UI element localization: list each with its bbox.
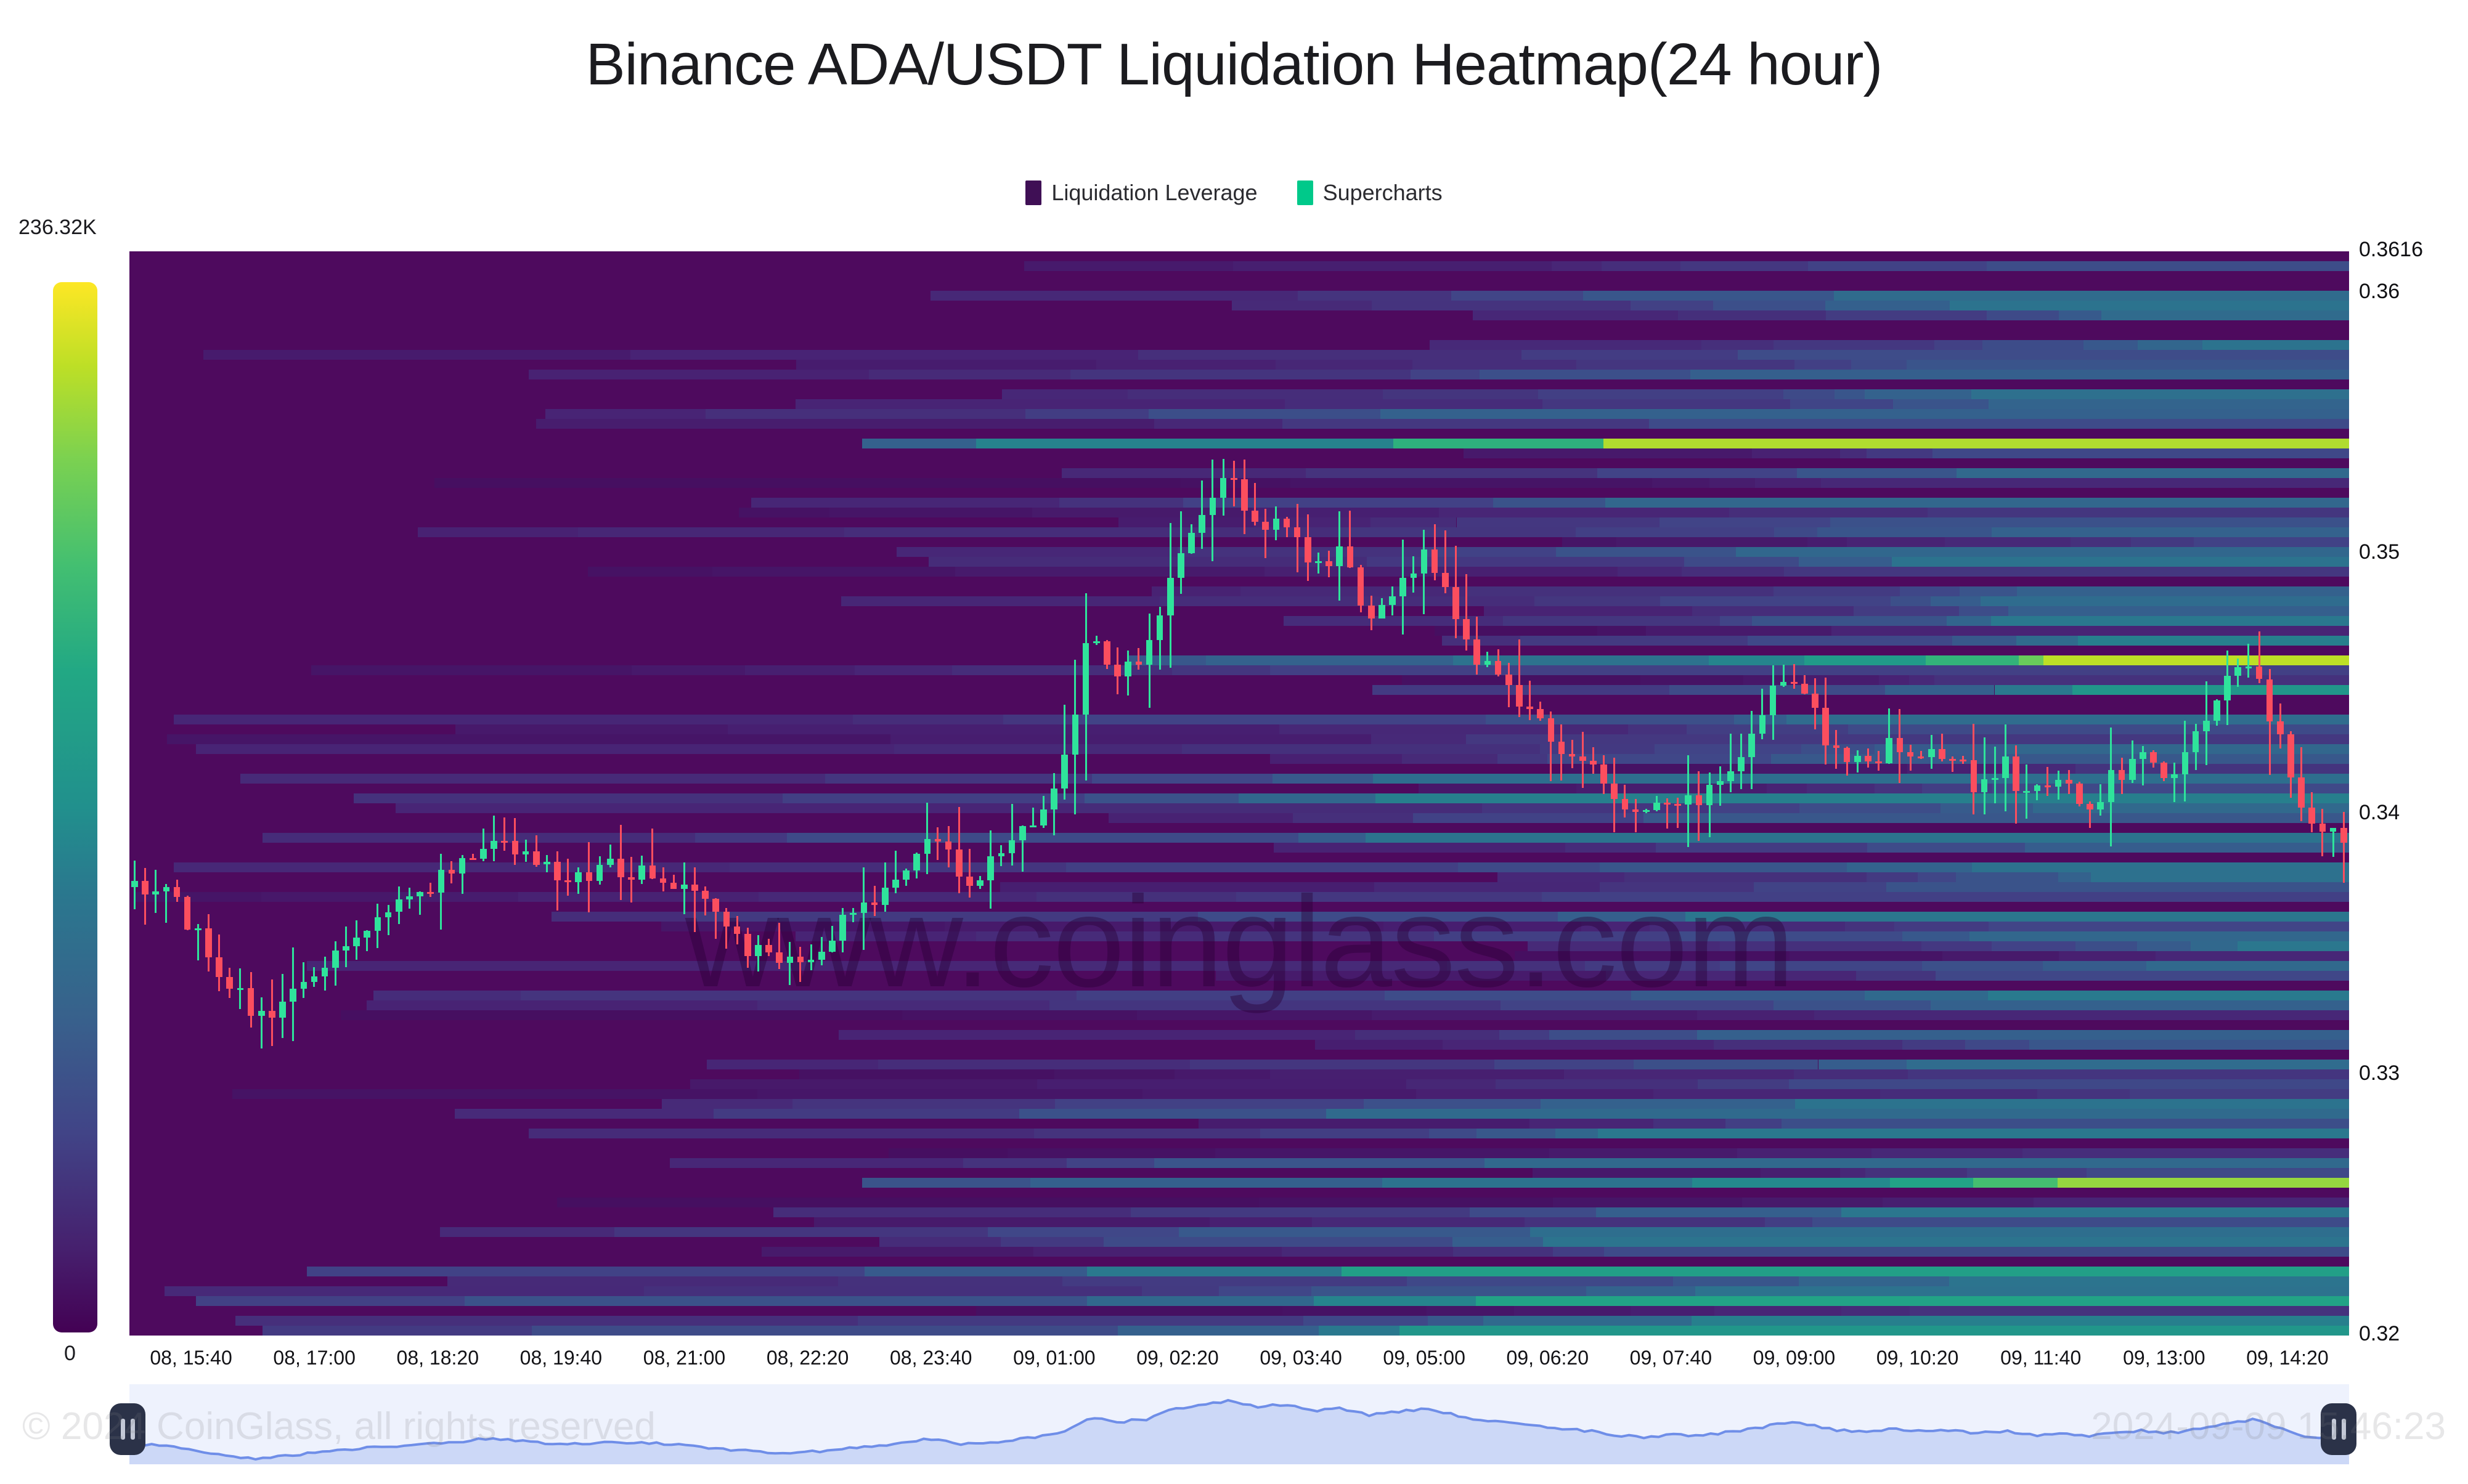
- candle-body: [174, 887, 181, 897]
- candlestick: [861, 251, 868, 1336]
- candlestick: [163, 251, 170, 1336]
- candlestick: [533, 251, 540, 1336]
- candlestick: [987, 251, 994, 1336]
- candlestick: [480, 251, 487, 1336]
- x-axis-tick: 08, 21:00: [643, 1347, 725, 1369]
- candle-body: [248, 988, 255, 1015]
- candle-wick: [430, 883, 431, 897]
- x-axis-tick: 09, 07:40: [1630, 1347, 1712, 1369]
- candle-body: [597, 865, 603, 881]
- candle-body: [617, 859, 624, 877]
- candle-wick: [556, 851, 558, 910]
- candlestick: [977, 251, 984, 1336]
- candle-body: [1347, 546, 1354, 568]
- candlestick: [1717, 251, 1724, 1336]
- x-axis-tick: 08, 17:00: [273, 1347, 355, 1369]
- candlestick: [1600, 251, 1607, 1336]
- candle-body: [1992, 778, 1998, 780]
- candlestick: [152, 251, 159, 1336]
- candle-wick: [1984, 737, 1985, 814]
- candlestick: [491, 251, 497, 1336]
- candlestick: [353, 251, 360, 1336]
- candlestick: [449, 251, 455, 1336]
- candle-wick: [1265, 509, 1266, 558]
- candle-wick: [567, 859, 569, 896]
- candlestick: [892, 251, 899, 1336]
- candlestick: [1114, 251, 1121, 1336]
- candlestick: [1358, 251, 1364, 1336]
- candle-body: [1326, 561, 1332, 566]
- candle-body: [1759, 715, 1766, 734]
- candlestick: [2108, 251, 2115, 1336]
- candle-body: [829, 941, 836, 952]
- candlestick: [1770, 251, 1777, 1336]
- candle-body: [1252, 511, 1258, 521]
- candle-body: [2193, 731, 2199, 752]
- legend-item-liquidation-leverage[interactable]: Liquidation Leverage: [1025, 180, 1257, 206]
- candlestick: [1273, 251, 1280, 1336]
- candle-body: [1336, 546, 1343, 566]
- candle-body: [956, 849, 963, 877]
- candle-body: [2108, 770, 2115, 801]
- candle-body: [1674, 804, 1681, 806]
- candle-wick: [261, 997, 263, 1048]
- candlestick: [1939, 251, 1945, 1336]
- candle-body: [861, 902, 868, 914]
- candle-body: [417, 892, 423, 896]
- candlestick: [375, 251, 381, 1336]
- candle-wick: [810, 944, 812, 970]
- candle-wick: [1677, 798, 1679, 828]
- candle-body: [1157, 615, 1163, 641]
- candle-body: [290, 989, 296, 1002]
- candle-wick: [1698, 771, 1700, 841]
- candle-body: [1801, 684, 1808, 694]
- candle-body: [1136, 662, 1142, 665]
- candle-body: [871, 902, 878, 905]
- candlestick: [1696, 251, 1703, 1336]
- candle-body: [2087, 804, 2093, 809]
- candlestick: [903, 251, 910, 1336]
- candle-body: [1748, 734, 1755, 757]
- candlestick: [691, 251, 698, 1336]
- candle-body: [1833, 745, 1840, 748]
- candle-wick: [1032, 808, 1034, 827]
- candle-body: [586, 872, 593, 880]
- candle-body: [787, 957, 794, 963]
- candle-body: [2002, 756, 2009, 777]
- candle-body: [1770, 686, 1777, 715]
- candle-body: [2150, 752, 2157, 763]
- x-axis-tick: 09, 01:00: [1013, 1347, 1095, 1369]
- candlestick: [1727, 251, 1734, 1336]
- candle-body: [1865, 756, 1871, 761]
- candlestick: [1759, 251, 1766, 1336]
- candle-body: [1928, 749, 1935, 757]
- candlestick: [1146, 251, 1153, 1336]
- candle-body: [1273, 519, 1280, 530]
- candle-body: [1643, 810, 1650, 812]
- candlestick: [2256, 251, 2263, 1336]
- candle-wick: [799, 947, 801, 982]
- x-axis-tick: 09, 05:00: [1383, 1347, 1465, 1369]
- candlestick: [1210, 251, 1216, 1336]
- candle-wick: [388, 905, 389, 936]
- candle-body: [850, 913, 857, 915]
- candle-body: [797, 957, 804, 962]
- candle-body: [660, 878, 667, 883]
- candle-body: [1072, 715, 1079, 755]
- candlestick: [1865, 251, 1871, 1336]
- candle-body: [2045, 785, 2051, 787]
- candle-body: [1399, 578, 1406, 596]
- candle-body: [2055, 780, 2062, 787]
- candle-body: [2182, 752, 2189, 774]
- candlestick: [417, 251, 423, 1336]
- candlestick: [2066, 251, 2072, 1336]
- candlestick: [2045, 251, 2051, 1336]
- candle-body: [564, 880, 571, 882]
- candle-body: [1389, 596, 1396, 605]
- candlestick: [1284, 251, 1290, 1336]
- legend-label-liquidation-leverage: Liquidation Leverage: [1051, 180, 1257, 206]
- candlestick: [1411, 251, 1417, 1336]
- candle-wick: [1096, 636, 1098, 644]
- y-axis: 0.36160.360.350.340.330.32: [2359, 251, 2464, 1336]
- candle-body: [1590, 761, 1597, 764]
- candle-body: [1452, 587, 1459, 619]
- candle-wick: [1011, 804, 1013, 866]
- candlestick: [1780, 251, 1787, 1336]
- candlestick: [1061, 251, 1068, 1336]
- candle-body: [1484, 661, 1491, 664]
- candlestick: [1167, 251, 1174, 1336]
- candlestick: [1421, 251, 1428, 1336]
- candlestick: [1072, 251, 1079, 1336]
- candle-wick: [1793, 664, 1795, 689]
- candle-body: [375, 917, 381, 931]
- chart-legend: Liquidation Leverage Supercharts: [0, 180, 2468, 206]
- candle-body: [1822, 708, 1829, 745]
- candlestick: [2119, 251, 2125, 1336]
- candlestick: [1590, 251, 1597, 1336]
- candlestick: [205, 251, 212, 1336]
- candlestick: [1030, 251, 1036, 1336]
- candlestick: [1971, 251, 1977, 1336]
- candlestick: [818, 251, 825, 1336]
- candle-wick: [1180, 511, 1182, 593]
- candle-wick: [789, 942, 791, 985]
- candle-body: [1146, 640, 1153, 664]
- candle-body: [258, 1011, 265, 1015]
- candlestick: [1886, 251, 1892, 1336]
- candle-body: [1706, 785, 1713, 806]
- candle-body: [1918, 756, 1924, 758]
- candlestick: [301, 251, 307, 1336]
- candle-wick: [1910, 745, 1912, 771]
- candlestick: [1738, 251, 1745, 1336]
- candlestick: [839, 251, 846, 1336]
- candlestick: [1526, 251, 1533, 1336]
- x-axis-tick: 09, 13:00: [2123, 1347, 2205, 1369]
- candlestick: [311, 251, 318, 1336]
- candlestick: [913, 251, 920, 1336]
- candle-body: [2298, 777, 2305, 808]
- candle-wick: [852, 908, 854, 922]
- candlestick: [2340, 251, 2347, 1336]
- candle-body: [1305, 537, 1311, 562]
- candle-body: [1421, 549, 1428, 574]
- candlestick: [1812, 251, 1818, 1336]
- candle-body: [1791, 682, 1798, 684]
- candlestick: [216, 251, 222, 1336]
- candlestick: [2203, 251, 2210, 1336]
- candle-wick: [1635, 799, 1637, 832]
- candle-body: [1971, 760, 1977, 792]
- candle-body: [1875, 761, 1882, 763]
- candlestick: [1379, 251, 1385, 1336]
- legend-swatch-liquidation-leverage: [1025, 180, 1041, 205]
- candlestick: [1452, 251, 1459, 1336]
- candlestick: [1305, 251, 1311, 1336]
- candle-body: [1495, 661, 1502, 674]
- legend-label-supercharts: Supercharts: [1323, 180, 1443, 206]
- candle-body: [1379, 605, 1385, 618]
- candlestick: [1897, 251, 1904, 1336]
- candle-body: [935, 839, 942, 841]
- candlestick: [1674, 251, 1681, 1336]
- y-axis-tick: 0.32: [2359, 1322, 2400, 1346]
- candle-body: [512, 841, 519, 854]
- candlestick: [1294, 251, 1301, 1336]
- candlestick: [1104, 251, 1110, 1336]
- candlestick: [670, 251, 677, 1336]
- candlestick: [1157, 251, 1163, 1336]
- candlestick: [935, 251, 942, 1336]
- candle-wick: [937, 827, 939, 860]
- candle-body: [702, 891, 709, 898]
- candle-body: [364, 931, 370, 938]
- candlestick: [1918, 251, 1924, 1336]
- candlestick: [2182, 251, 2189, 1336]
- candle-wick: [1835, 730, 1837, 769]
- candle-body: [2308, 808, 2315, 824]
- candlestick: [2234, 251, 2241, 1336]
- candle-wick: [2332, 828, 2334, 858]
- candlestick: [248, 251, 255, 1336]
- candlestick: [2076, 251, 2083, 1336]
- candle-body: [2119, 770, 2125, 780]
- legend-item-supercharts[interactable]: Supercharts: [1297, 180, 1443, 206]
- candle-body: [1685, 795, 1692, 805]
- candle-body: [2140, 752, 2146, 759]
- y-axis-tick: 0.33: [2359, 1061, 2400, 1085]
- candle-wick: [1317, 553, 1319, 574]
- candle-body: [427, 892, 434, 894]
- candlestick: [882, 251, 889, 1336]
- candle-body: [216, 957, 222, 977]
- candlestick: [702, 251, 709, 1336]
- candlestick: [871, 251, 878, 1336]
- candle-body: [1241, 479, 1248, 511]
- candlestick: [2246, 251, 2252, 1336]
- candlestick: [1516, 251, 1523, 1336]
- candle-body: [1738, 757, 1745, 771]
- candle-body: [343, 946, 349, 951]
- candle-body: [1473, 639, 1480, 665]
- candlestick: [2213, 251, 2220, 1336]
- colorbar-gradient: [53, 282, 97, 1332]
- candle-body: [839, 915, 846, 941]
- candle-body: [2330, 828, 2337, 832]
- candle-body: [2161, 763, 2167, 778]
- x-axis-tick: 08, 22:20: [767, 1347, 849, 1369]
- candle-body: [1199, 515, 1205, 533]
- candlestick: [184, 251, 191, 1336]
- candle-wick: [1529, 681, 1531, 720]
- candle-body: [554, 862, 561, 880]
- candle-body: [1210, 498, 1216, 515]
- candlestick: [945, 251, 952, 1336]
- candlestick: [1495, 251, 1502, 1336]
- candlestick: [734, 251, 741, 1336]
- candle-wick: [1138, 648, 1139, 670]
- candlestick: [1875, 251, 1882, 1336]
- candle-body: [1526, 707, 1533, 709]
- candlestick: [290, 251, 296, 1336]
- candlestick: [564, 251, 571, 1336]
- candle-body: [1548, 718, 1555, 742]
- candlestick: [2287, 251, 2294, 1336]
- candle-body: [501, 841, 508, 843]
- candle-body: [2023, 791, 2030, 793]
- candle-wick: [2321, 809, 2323, 856]
- candle-body: [2256, 667, 2263, 679]
- candlestick: [1199, 251, 1205, 1336]
- candlestick: [1347, 251, 1354, 1336]
- candle-body: [1939, 749, 1945, 759]
- candle-body: [523, 851, 529, 854]
- candlestick: [597, 251, 603, 1336]
- candlestick: [343, 251, 349, 1336]
- candle-body: [301, 982, 307, 988]
- candle-body: [1125, 662, 1131, 676]
- candle-body: [650, 866, 656, 878]
- candle-body: [628, 877, 635, 880]
- candle-body: [396, 899, 402, 912]
- candlestick: [2319, 251, 2326, 1336]
- candle-body: [406, 896, 413, 899]
- candle-wick: [2343, 812, 2345, 882]
- candle-body: [2097, 802, 2104, 810]
- candle-body: [1051, 789, 1057, 810]
- candlestick: [2330, 251, 2337, 1336]
- candle-body: [903, 870, 910, 880]
- candlestick: [1907, 251, 1914, 1336]
- candlestick: [1505, 251, 1512, 1336]
- candle-body: [459, 858, 466, 873]
- candlestick: [998, 251, 1005, 1336]
- candle-body: [1653, 803, 1660, 810]
- candlestick: [2129, 251, 2136, 1336]
- candle-body: [1558, 742, 1565, 754]
- heatmap-plot-area[interactable]: www.coinglass.com: [129, 251, 2349, 1336]
- candle-body: [152, 891, 159, 894]
- candle-body: [734, 926, 741, 935]
- candlestick: [385, 251, 392, 1336]
- candlestick: [1220, 251, 1227, 1336]
- candle-body: [1949, 759, 1956, 761]
- candle-body: [353, 938, 360, 946]
- candlestick: [1632, 251, 1639, 1336]
- candlestick: [1463, 251, 1470, 1336]
- candlestick: [174, 251, 181, 1336]
- candle-body: [1579, 756, 1586, 761]
- candlestick: [2171, 251, 2178, 1336]
- candle-body: [1262, 522, 1269, 530]
- copyright-watermark: © 2024 CoinGlass, all rights reserved: [22, 1405, 656, 1448]
- candlestick: [776, 251, 783, 1336]
- candlestick: [787, 251, 794, 1336]
- candle-body: [681, 885, 688, 889]
- candlestick: [850, 251, 857, 1336]
- candle-body: [1178, 553, 1184, 578]
- candle-body: [1009, 840, 1016, 854]
- x-axis-tick: 09, 02:20: [1136, 1347, 1218, 1369]
- x-axis-tick: 09, 10:20: [1876, 1347, 1958, 1369]
- candle-wick: [1994, 747, 1996, 803]
- x-axis-tick: 09, 06:20: [1507, 1347, 1589, 1369]
- candle-body: [470, 858, 476, 860]
- candlestick: [1009, 251, 1016, 1336]
- candlestick: [226, 251, 233, 1336]
- candle-body: [1104, 641, 1110, 665]
- candle-body: [1907, 752, 1914, 756]
- candle-body: [1780, 682, 1787, 685]
- candlestick: [2034, 251, 2041, 1336]
- page-title: Binance ADA/USDT Liquidation Heatmap(24 …: [0, 31, 2468, 99]
- candle-wick: [1730, 734, 1732, 792]
- candlestick: [501, 251, 508, 1336]
- candle-body: [808, 960, 815, 962]
- candle-wick: [1233, 461, 1235, 507]
- candle-wick: [694, 867, 696, 931]
- y-axis-tick: 0.34: [2359, 801, 2400, 825]
- candlestick: [1188, 251, 1195, 1336]
- candlestick: [2097, 251, 2104, 1336]
- x-axis-tick: 08, 18:20: [397, 1347, 479, 1369]
- candlestick: [660, 251, 667, 1336]
- candle-body: [723, 912, 730, 926]
- candle-body: [765, 945, 772, 952]
- colorbar: 236.32K 0: [25, 251, 117, 1336]
- candle-body: [237, 988, 244, 990]
- candlestick: [2193, 251, 2199, 1336]
- candlestick: [438, 251, 445, 1336]
- candle-body: [1505, 675, 1512, 685]
- candle-body: [2171, 774, 2178, 777]
- candlestick: [1442, 251, 1449, 1336]
- candlestick: [1854, 251, 1861, 1336]
- candlestick: [1389, 251, 1396, 1336]
- candlestick: [364, 251, 370, 1336]
- x-axis: 08, 15:4008, 17:0008, 18:2008, 19:4008, …: [129, 1342, 2349, 1376]
- candlestick: [1336, 251, 1343, 1336]
- candlestick: [554, 251, 561, 1336]
- candle-body: [142, 881, 149, 894]
- candlestick: [712, 251, 719, 1336]
- candlestick: [1432, 251, 1438, 1336]
